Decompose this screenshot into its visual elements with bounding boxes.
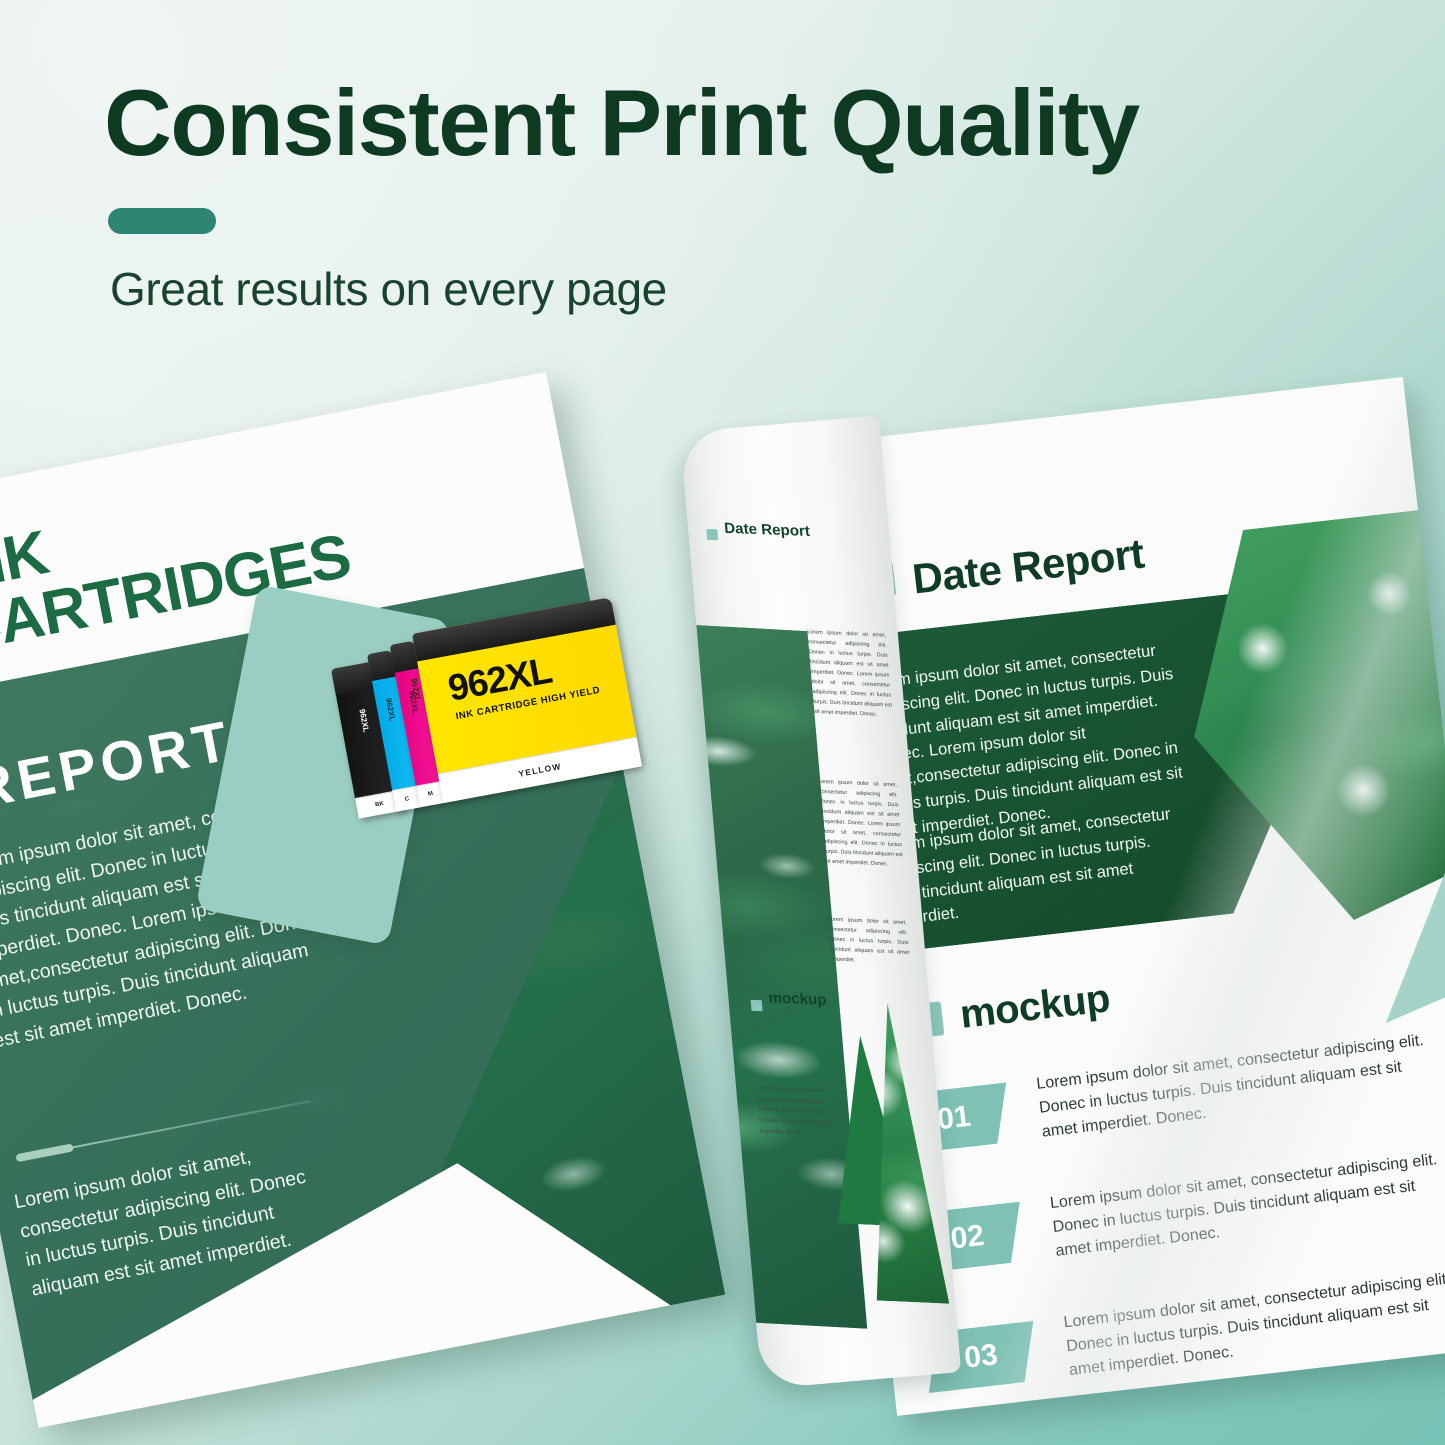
right-brochure-heading-date-report: Date Report	[910, 530, 1146, 604]
cartridge-color-name: YELLOW	[518, 761, 563, 779]
curled-page-column-3: Lorem ipsum dolor sit amet, consectetur …	[828, 915, 911, 968]
right-brochure-heading-mockup: mockup	[958, 976, 1112, 1038]
right-brochure-spread: Date Report Lorem ipsum dolor sit amet, …	[558, 353, 1445, 1445]
product-marketing-image: Consistent Print Quality Great results o…	[0, 0, 1445, 1445]
page-headline: Consistent Print Quality	[104, 74, 1394, 173]
page-subheadline: Great results on every page	[110, 262, 667, 316]
cartridge-label-cyan: 962XL	[384, 698, 397, 723]
cartridge-label-black: 962XL	[357, 708, 370, 733]
square-bullet-icon-curled-mockup	[751, 1000, 763, 1011]
curled-page-heading-date-report: Date Report	[724, 520, 811, 540]
mockup-list: 01 Lorem ipsum dolor sit amet, consectet…	[894, 1026, 1445, 1416]
accent-pill-divider	[108, 208, 216, 234]
square-bullet-icon-curled-date-report	[706, 529, 718, 540]
curled-page-column-2: Lorem ipsum dolor sit amet, consectetur …	[818, 777, 904, 870]
curled-page-column-1: Lorem ipsum dolor sit amet, consectetur …	[807, 627, 893, 720]
mockup-item-text-01: Lorem ipsum dolor sit amet, consectetur …	[1035, 1028, 1441, 1145]
